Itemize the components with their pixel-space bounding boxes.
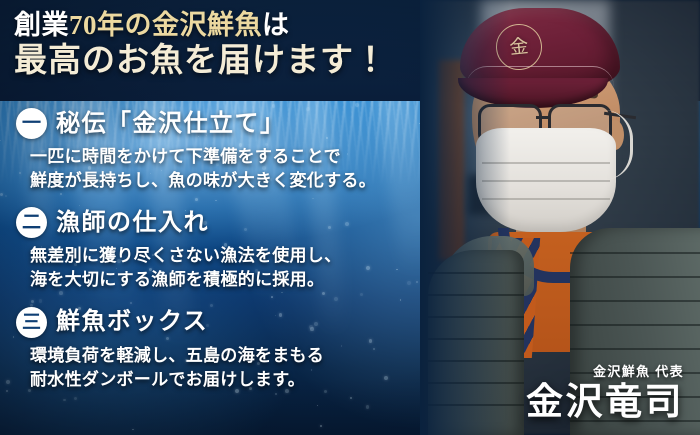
- headline-segment-0: 創業: [14, 10, 69, 40]
- bubble: [132, 429, 133, 430]
- mask-ear-strap: [604, 110, 633, 180]
- bubble: [320, 425, 322, 427]
- signature-role: 金沢鮮魚 代表: [526, 361, 684, 380]
- jacket-quilt-seam: [570, 348, 700, 350]
- promo-banner: 金 創業70年の金沢鮮魚は 最高のお魚を届けます！ 一秘伝「金沢仕立て」一匹に時…: [0, 0, 700, 435]
- jacket-quilt-seam: [570, 276, 700, 278]
- bubble: [50, 101, 51, 102]
- feature-title: 秘伝「金沢仕立て」: [56, 112, 286, 136]
- feature-title: 漁師の仕入れ: [56, 211, 209, 235]
- feature-heading: 三鮮魚ボックス: [16, 307, 436, 338]
- feature-list: 一秘伝「金沢仕立て」一匹に時間をかけて下準備をすることで鮮度が長持ちし、魚の味が…: [16, 108, 436, 406]
- feature-body: 環境負荷を軽減し、五島の海をまもる耐水性ダンボールでお届けします。: [30, 344, 436, 392]
- headline-line-2: 最高のお魚を届けます！: [14, 42, 388, 82]
- feature-body-line: 耐水性ダンボールでお届けします。: [30, 368, 436, 392]
- bubble: [13, 336, 14, 337]
- badge-number-one-icon: 一: [16, 108, 47, 139]
- bubble: [355, 103, 359, 107]
- feature-item: 二漁師の仕入れ無差別に獲り尽くさない漁法を使用し、海を大切にする漁師を積極的に採…: [16, 207, 436, 292]
- feature-body-line: 鮮度が長持ちし、魚の味が大きく変化する。: [30, 169, 436, 193]
- signature-name: 金沢竜司: [526, 384, 684, 423]
- bubble: [0, 193, 3, 196]
- feature-heading: 一秘伝「金沢仕立て」: [16, 108, 436, 139]
- headline-segment-1: 70年の: [69, 10, 152, 40]
- feature-body-line: 環境負荷を軽減し、五島の海をまもる: [30, 344, 436, 368]
- feature-body-line: 海を大切にする漁師を積極的に採用。: [30, 268, 436, 292]
- headline-block: 創業70年の金沢鮮魚は 最高のお魚を届けます！: [14, 10, 388, 81]
- jacket-quilt-seam: [570, 300, 700, 302]
- feature-body-line: 無差別に獲り尽くさない漁法を使用し、: [30, 244, 436, 268]
- badge-number-two-icon: 二: [16, 207, 47, 238]
- eyeglass-bridge: [536, 116, 548, 119]
- badge-number-three-icon: 三: [16, 307, 47, 338]
- feature-body-line: 一匹に時間をかけて下準備をすることで: [30, 145, 436, 169]
- feature-item: 一秘伝「金沢仕立て」一匹に時間をかけて下準備をすることで鮮度が長持ちし、魚の味が…: [16, 108, 436, 193]
- feature-item: 三鮮魚ボックス環境負荷を軽減し、五島の海をまもる耐水性ダンボールでお届けします。: [16, 307, 436, 392]
- jacket-quilt-seam: [570, 324, 700, 326]
- headline-line-1: 創業70年の金沢鮮魚は: [14, 10, 388, 42]
- bubble: [366, 405, 370, 409]
- bubble: [6, 380, 10, 384]
- headline-segment-2: 金沢鮮魚: [152, 10, 262, 40]
- bubble: [5, 195, 7, 197]
- feature-body: 一匹に時間をかけて下準備をすることで鮮度が長持ちし、魚の味が大きく変化する。: [30, 145, 436, 193]
- feature-heading: 二漁師の仕入れ: [16, 207, 436, 238]
- headline-segment-3: は: [262, 10, 290, 40]
- feature-title: 鮮魚ボックス: [56, 310, 208, 334]
- bubble: [6, 390, 8, 392]
- bubble: [0, 140, 1, 141]
- jacket-quilt-seam: [570, 252, 700, 254]
- feature-body: 無差別に獲り尽くさない漁法を使用し、海を大切にする漁師を積極的に採用。: [30, 244, 436, 292]
- signature-block: 金沢鮮魚 代表 金沢竜司: [526, 361, 684, 423]
